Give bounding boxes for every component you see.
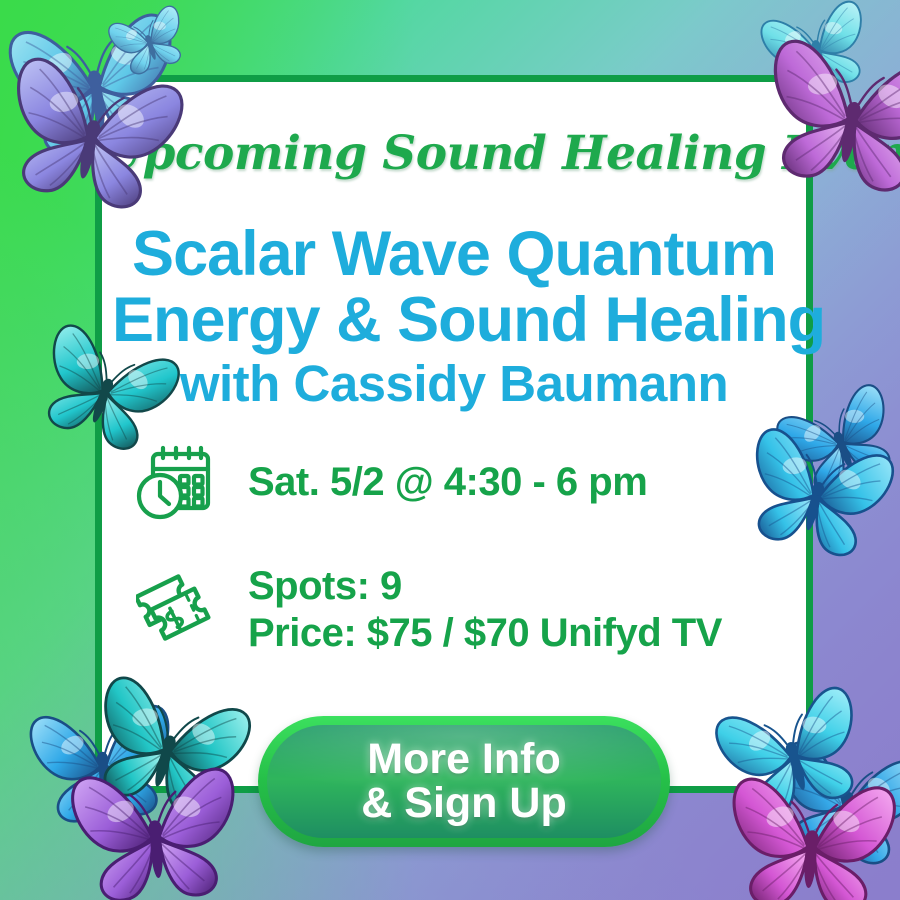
event-title-line-1: Scalar Wave Quantum [112,222,796,288]
more-info-sign-up-button[interactable]: More Info & Sign Up [258,716,670,847]
event-title-line-2: Energy & Sound Healing [112,288,796,354]
butterfly-small-top-left [102,0,197,85]
detail-row-pricing: Spots: 9 Price: $75 / $70 Unifyd TV [132,563,782,657]
calendar-clock-icon [132,437,224,529]
detail-datetime-text: Sat. 5/2 @ 4:30 - 6 pm [248,459,647,506]
event-title: Scalar Wave Quantum Energy & Sound Heali… [112,222,796,410]
event-flyer-poster: Upcoming Sound Healing Event Scalar Wave… [0,0,900,900]
detail-price-text: Price: $75 / $70 Unifyd TV [248,610,722,657]
tickets-dollar-icon [132,564,224,656]
cta-label-line-1: More Info [367,738,560,782]
event-details: Sat. 5/2 @ 4:30 - 6 pm [132,437,782,691]
cta-label-line-2: & Sign Up [361,782,566,826]
detail-pricing-text: Spots: 9 Price: $75 / $70 Unifyd TV [248,563,722,657]
detail-spots-text: Spots: 9 [248,563,722,610]
event-kicker-heading: Upcoming Sound Healing Event [102,126,806,181]
event-title-line-3: with Cassidy Baumann [112,357,796,410]
content-card: Upcoming Sound Healing Event Scalar Wave… [95,75,813,793]
detail-row-datetime: Sat. 5/2 @ 4:30 - 6 pm [132,437,782,529]
cta-button-inner: More Info & Sign Up [267,725,661,838]
